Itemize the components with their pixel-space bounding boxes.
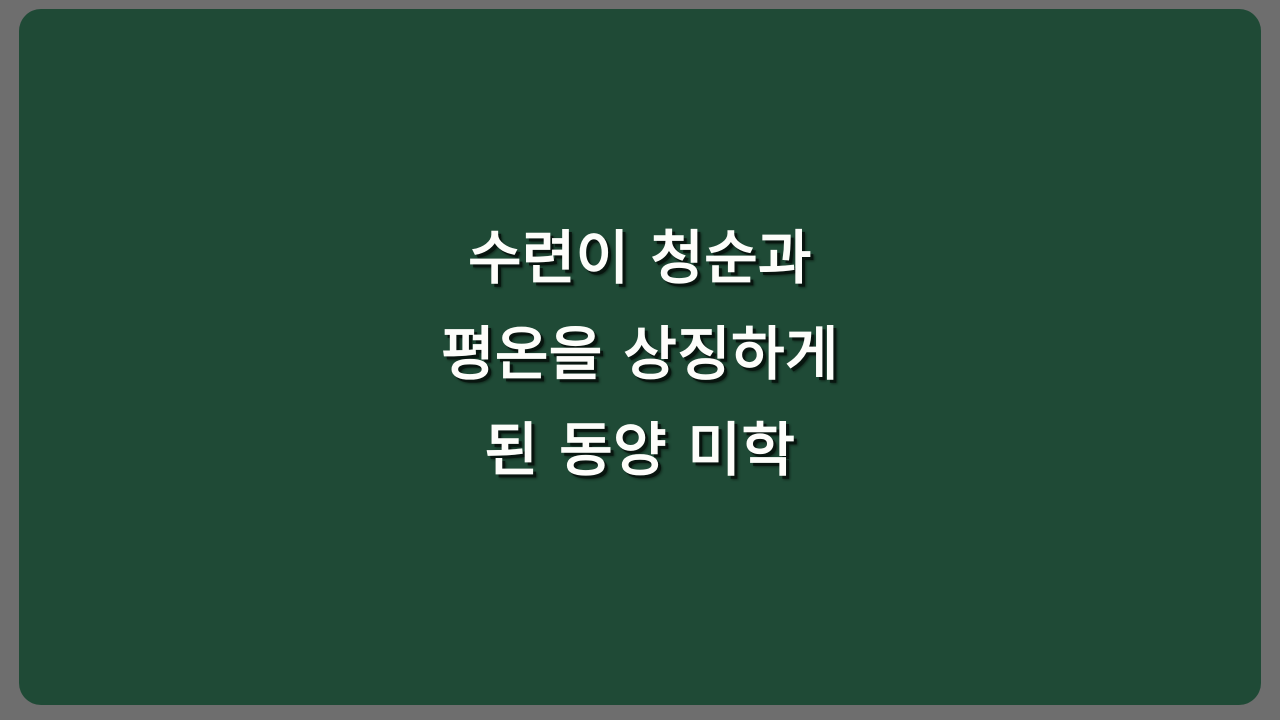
slide-frame: 수련이 청순과 평온을 상징하게 된 동양 미학 [0,0,1280,720]
caption-line-2: 평온을 상징하게 [19,306,1261,402]
caption-block: 수련이 청순과 평온을 상징하게 된 동양 미학 [19,9,1261,705]
caption-line-3: 된 동양 미학 [19,402,1261,498]
green-board-panel: 수련이 청순과 평온을 상징하게 된 동양 미학 [19,9,1261,705]
caption-line-1: 수련이 청순과 [19,210,1261,306]
